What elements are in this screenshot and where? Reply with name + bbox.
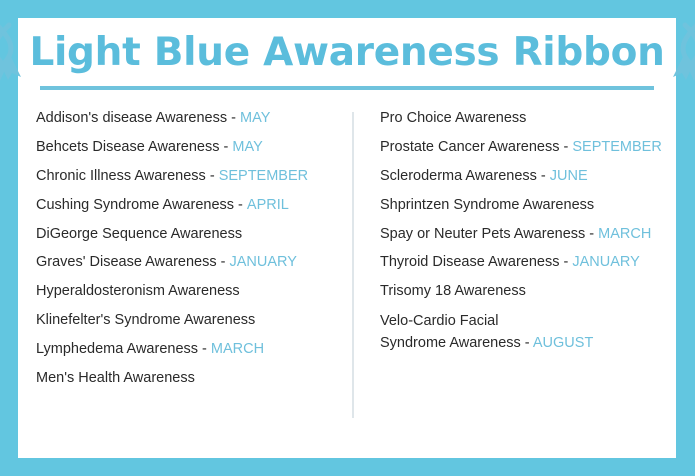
awareness-name: Scleroderma Awareness bbox=[380, 168, 537, 184]
left-column: Addison's disease Awareness - MAYBehcets… bbox=[18, 104, 352, 458]
awareness-name: Pro Choice Awareness bbox=[380, 110, 526, 126]
list-item: Klinefelter's Syndrome Awareness bbox=[36, 306, 352, 335]
awareness-name: Hyperaldosteronism Awareness bbox=[36, 283, 240, 299]
list-item: Prostate Cancer Awareness - SEPTEMBER bbox=[380, 133, 676, 162]
awareness-month: SEPTEMBER bbox=[219, 168, 308, 184]
awareness-month: JANUARY bbox=[230, 254, 297, 270]
awareness-name: Men's Health Awareness bbox=[36, 370, 195, 386]
poster-card: Light Blue Awareness Ribbon Addison's di… bbox=[18, 18, 676, 458]
awareness-ribbon-icon bbox=[0, 21, 25, 83]
separator: - bbox=[227, 110, 240, 126]
awareness-month: JANUARY bbox=[572, 254, 639, 270]
list-item: Cushing Syndrome Awareness - APRIL bbox=[36, 190, 352, 219]
separator: - bbox=[559, 254, 572, 270]
awareness-month: APRIL bbox=[247, 197, 289, 213]
list-item: Graves' Disease Awareness - JANUARY bbox=[36, 248, 352, 277]
awareness-month: MAY bbox=[232, 139, 262, 155]
separator: - bbox=[217, 254, 230, 270]
separator: - bbox=[206, 168, 219, 184]
awareness-name: Addison's disease Awareness bbox=[36, 110, 227, 126]
list-item: Trisomy 18 Awareness bbox=[380, 277, 676, 306]
awareness-month: MARCH bbox=[598, 226, 651, 242]
awareness-month: MAY bbox=[240, 110, 270, 126]
awareness-name: Shprintzen Syndrome Awareness bbox=[380, 197, 594, 213]
list-item: Addison's disease Awareness - MAY bbox=[36, 104, 352, 133]
awareness-name: Trisomy 18 Awareness bbox=[380, 283, 526, 299]
list-item: Spay or Neuter Pets Awareness - MARCH bbox=[380, 219, 676, 248]
list-item: Chronic Illness Awareness - SEPTEMBER bbox=[36, 162, 352, 191]
awareness-month: AUGUST bbox=[533, 335, 593, 351]
list-item: Lymphedema Awareness - MARCH bbox=[36, 334, 352, 363]
list-item: Scleroderma Awareness - JUNE bbox=[380, 162, 676, 191]
awareness-name: Behcets Disease Awareness bbox=[36, 139, 220, 155]
list-item: Behcets Disease Awareness - MAY bbox=[36, 133, 352, 162]
awareness-name: Prostate Cancer Awareness bbox=[380, 139, 559, 155]
list-item: Hyperaldosteronism Awareness bbox=[36, 277, 352, 306]
separator: - bbox=[220, 139, 233, 155]
separator: - bbox=[559, 139, 572, 155]
separator: - bbox=[537, 168, 550, 184]
page-title: Light Blue Awareness Ribbon bbox=[29, 33, 664, 72]
awareness-name: Graves' Disease Awareness bbox=[36, 254, 217, 270]
separator: - bbox=[585, 226, 598, 242]
list-item: Shprintzen Syndrome Awareness bbox=[380, 190, 676, 219]
awareness-month: SEPTEMBER bbox=[572, 139, 661, 155]
awareness-name: Spay or Neuter Pets Awareness bbox=[380, 226, 585, 242]
awareness-name: Cushing Syndrome Awareness bbox=[36, 197, 234, 213]
column-divider bbox=[352, 112, 354, 418]
list-item: Pro Choice Awareness bbox=[380, 104, 676, 133]
title-underline-rule bbox=[40, 86, 654, 90]
right-column: Pro Choice AwarenessProstate Cancer Awar… bbox=[352, 104, 676, 458]
list-item: Men's Health Awareness bbox=[36, 363, 352, 392]
poster-header: Light Blue Awareness Ribbon bbox=[18, 18, 676, 86]
separator: - bbox=[521, 335, 533, 351]
awareness-month: MARCH bbox=[211, 341, 264, 357]
awareness-name: Thyroid Disease Awareness bbox=[380, 254, 559, 270]
list-item: Velo-Cardio FacialSyndrome Awareness - A… bbox=[380, 306, 676, 354]
list-item: DiGeorge Sequence Awareness bbox=[36, 219, 352, 248]
separator: - bbox=[198, 341, 211, 357]
separator: - bbox=[234, 197, 247, 213]
awareness-name: Lymphedema Awareness bbox=[36, 341, 198, 357]
list-item: Thyroid Disease Awareness - JANUARY bbox=[380, 248, 676, 277]
awareness-name: Chronic Illness Awareness bbox=[36, 168, 206, 184]
awareness-month: JUNE bbox=[550, 168, 588, 184]
awareness-list: Addison's disease Awareness - MAYBehcets… bbox=[18, 104, 676, 458]
awareness-name: Klinefelter's Syndrome Awareness bbox=[36, 312, 255, 328]
awareness-name: DiGeorge Sequence Awareness bbox=[36, 226, 242, 242]
awareness-ribbon-icon bbox=[669, 21, 695, 83]
awareness-name: Velo-Cardio FacialSyndrome Awareness bbox=[380, 313, 521, 351]
